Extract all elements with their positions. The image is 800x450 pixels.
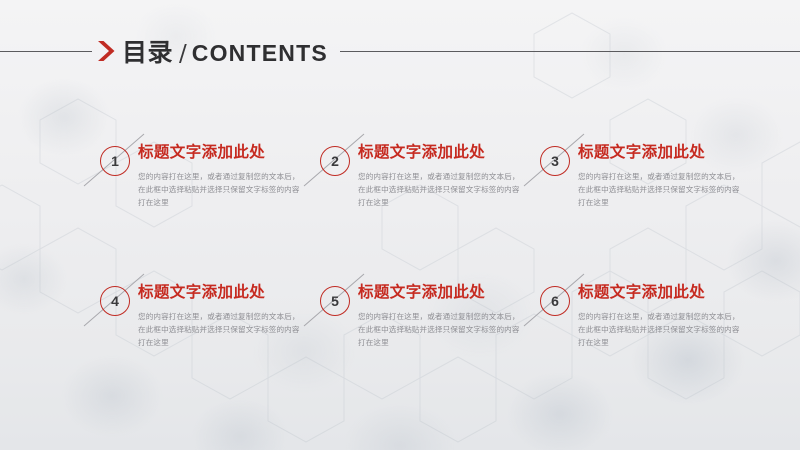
slide-header: 目录 / CONTENTS — [0, 36, 800, 66]
item-number-label: 1 — [111, 153, 119, 169]
item-text-block: 标题文字添加此处 您的内容打在这里，或者通过复制您的文本后，在此框中选择粘贴并选… — [138, 142, 306, 209]
header-rule-right — [340, 51, 800, 52]
page-title-separator: / — [179, 41, 187, 67]
page-title-en: CONTENTS — [192, 40, 328, 67]
page-title: 目录 / CONTENTS — [122, 33, 328, 69]
item-text-block: 标题文字添加此处 您的内容打在这里，或者通过复制您的文本后，在此框中选择粘贴并选… — [578, 282, 746, 349]
contents-grid: 1 标题文字添加此处 您的内容打在这里，或者通过复制您的文本后，在此框中选择粘贴… — [84, 134, 756, 414]
item-title: 标题文字添加此处 — [358, 142, 526, 163]
chevron-right-icon — [96, 40, 116, 62]
content-item-5[interactable]: 5 标题文字添加此处 您的内容打在这里，或者通过复制您的文本后，在此框中选择粘贴… — [304, 274, 524, 414]
item-number-badge: 6 — [540, 286, 570, 316]
item-text-block: 标题文字添加此处 您的内容打在这里，或者通过复制您的文本后，在此框中选择粘贴并选… — [358, 142, 526, 209]
item-number-badge: 2 — [320, 146, 350, 176]
item-text-block: 标题文字添加此处 您的内容打在这里，或者通过复制您的文本后，在此框中选择粘贴并选… — [358, 282, 526, 349]
item-title: 标题文字添加此处 — [358, 282, 526, 303]
item-number-label: 2 — [331, 153, 339, 169]
slide-canvas: 目录 / CONTENTS 1 标题文字添加此处 您的内容打在这里，或者通过复制… — [0, 0, 800, 450]
item-description: 您的内容打在这里，或者通过复制您的文本后，在此框中选择粘贴并选择只保留文字标签的… — [578, 310, 746, 349]
item-number-badge: 4 — [100, 286, 130, 316]
item-number-badge: 5 — [320, 286, 350, 316]
item-description: 您的内容打在这里，或者通过复制您的文本后，在此框中选择粘贴并选择只保留文字标签的… — [358, 310, 526, 349]
item-number-badge: 1 — [100, 146, 130, 176]
item-number-label: 4 — [111, 293, 119, 309]
content-item-3[interactable]: 3 标题文字添加此处 您的内容打在这里，或者通过复制您的文本后，在此框中选择粘贴… — [524, 134, 744, 274]
item-number-label: 6 — [551, 293, 559, 309]
header-rule-left — [0, 51, 92, 52]
item-description: 您的内容打在这里，或者通过复制您的文本后，在此框中选择粘贴并选择只保留文字标签的… — [358, 170, 526, 209]
content-item-1[interactable]: 1 标题文字添加此处 您的内容打在这里，或者通过复制您的文本后，在此框中选择粘贴… — [84, 134, 304, 274]
item-number-label: 5 — [331, 293, 339, 309]
item-title: 标题文字添加此处 — [578, 142, 746, 163]
item-title: 标题文字添加此处 — [138, 142, 306, 163]
item-title: 标题文字添加此处 — [138, 282, 306, 303]
content-item-4[interactable]: 4 标题文字添加此处 您的内容打在这里，或者通过复制您的文本后，在此框中选择粘贴… — [84, 274, 304, 414]
item-number-badge: 3 — [540, 146, 570, 176]
item-text-block: 标题文字添加此处 您的内容打在这里，或者通过复制您的文本后，在此框中选择粘贴并选… — [578, 142, 746, 209]
content-item-6[interactable]: 6 标题文字添加此处 您的内容打在这里，或者通过复制您的文本后，在此框中选择粘贴… — [524, 274, 744, 414]
page-title-cn: 目录 — [122, 33, 173, 69]
item-description: 您的内容打在这里，或者通过复制您的文本后，在此框中选择粘贴并选择只保留文字标签的… — [138, 310, 306, 349]
content-item-2[interactable]: 2 标题文字添加此处 您的内容打在这里，或者通过复制您的文本后，在此框中选择粘贴… — [304, 134, 524, 274]
item-number-label: 3 — [551, 153, 559, 169]
item-description: 您的内容打在这里，或者通过复制您的文本后，在此框中选择粘贴并选择只保留文字标签的… — [578, 170, 746, 209]
item-title: 标题文字添加此处 — [578, 282, 746, 303]
item-description: 您的内容打在这里，或者通过复制您的文本后，在此框中选择粘贴并选择只保留文字标签的… — [138, 170, 306, 209]
item-text-block: 标题文字添加此处 您的内容打在这里，或者通过复制您的文本后，在此框中选择粘贴并选… — [138, 282, 306, 349]
